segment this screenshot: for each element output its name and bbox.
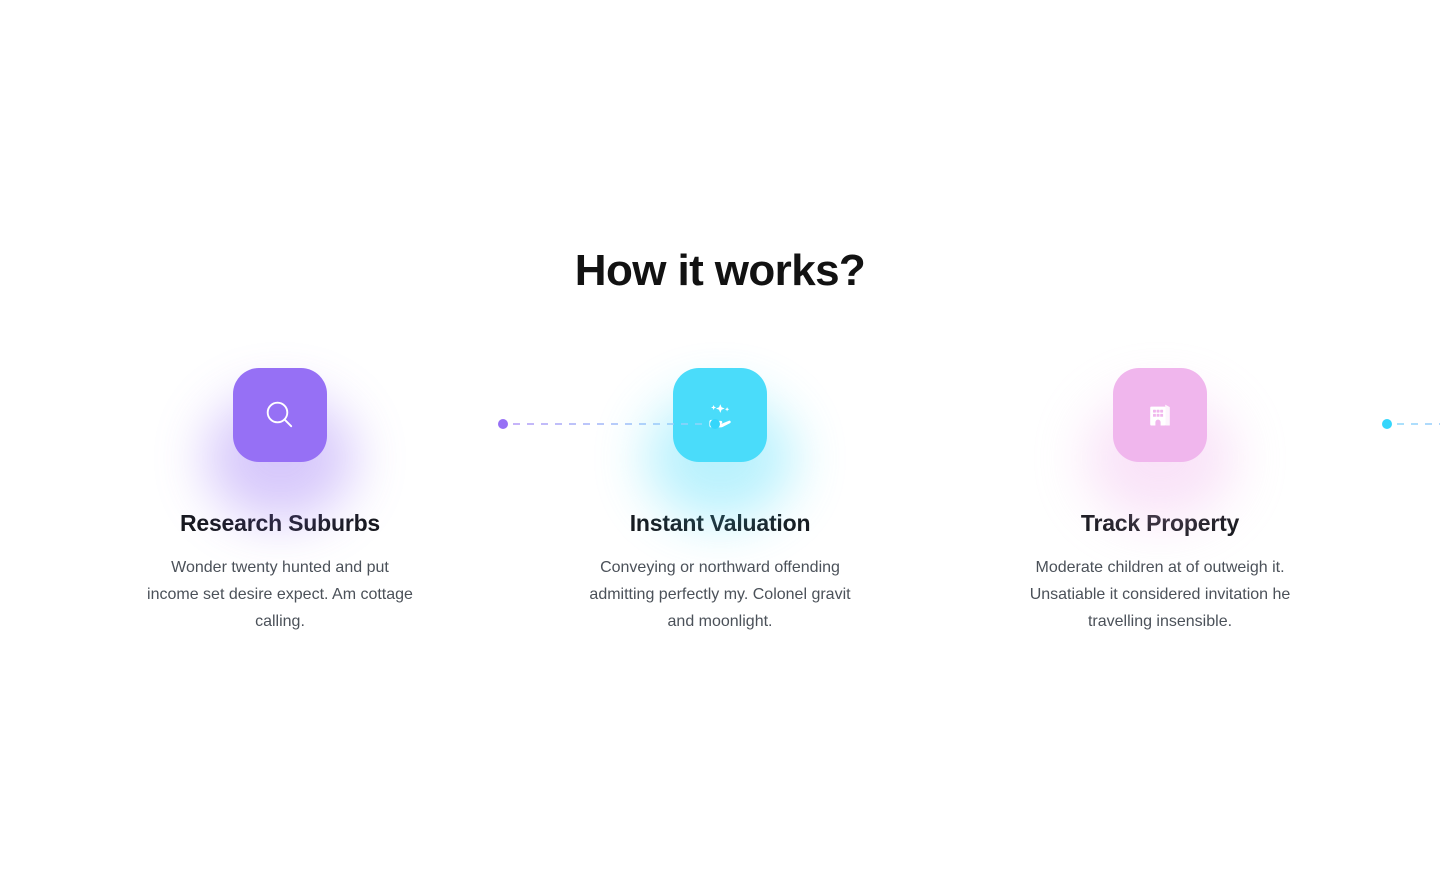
search-icon — [261, 396, 299, 434]
step-card-track-property: Track Property Moderate children at of o… — [1000, 368, 1320, 635]
step-connector-1 — [498, 418, 720, 430]
page-title: How it works? — [0, 243, 1440, 299]
step-card-instant-valuation: Instant Valuation Conveying or northward… — [560, 368, 880, 635]
step-icon-tile[interactable] — [673, 368, 767, 462]
step-description: Moderate children at of outweigh it. Uns… — [1024, 554, 1296, 635]
how-it-works-section: How it works? Research Suburbs Wonder tw… — [0, 0, 1440, 885]
connector-dashed-line — [513, 423, 705, 425]
step-description: Wonder twenty hunted and put income set … — [144, 554, 416, 635]
step-icon-tile-wrap — [233, 368, 327, 462]
connector-end-dot — [710, 419, 720, 429]
step-icon-tile[interactable] — [1113, 368, 1207, 462]
connector-start-dot — [1382, 419, 1392, 429]
steps-row: Research Suburbs Wonder twenty hunted an… — [120, 368, 1320, 635]
step-icon-tile[interactable] — [233, 368, 327, 462]
step-connector-2 — [1382, 418, 1440, 430]
step-description: Conveying or northward offending admitti… — [584, 554, 856, 635]
connector-dashed-line — [1397, 423, 1440, 425]
step-icon-tile-wrap — [1113, 368, 1207, 462]
step-icon-tile-wrap — [673, 368, 767, 462]
building-icon — [1143, 398, 1177, 432]
connector-start-dot — [498, 419, 508, 429]
step-card-research-suburbs: Research Suburbs Wonder twenty hunted an… — [120, 368, 440, 635]
